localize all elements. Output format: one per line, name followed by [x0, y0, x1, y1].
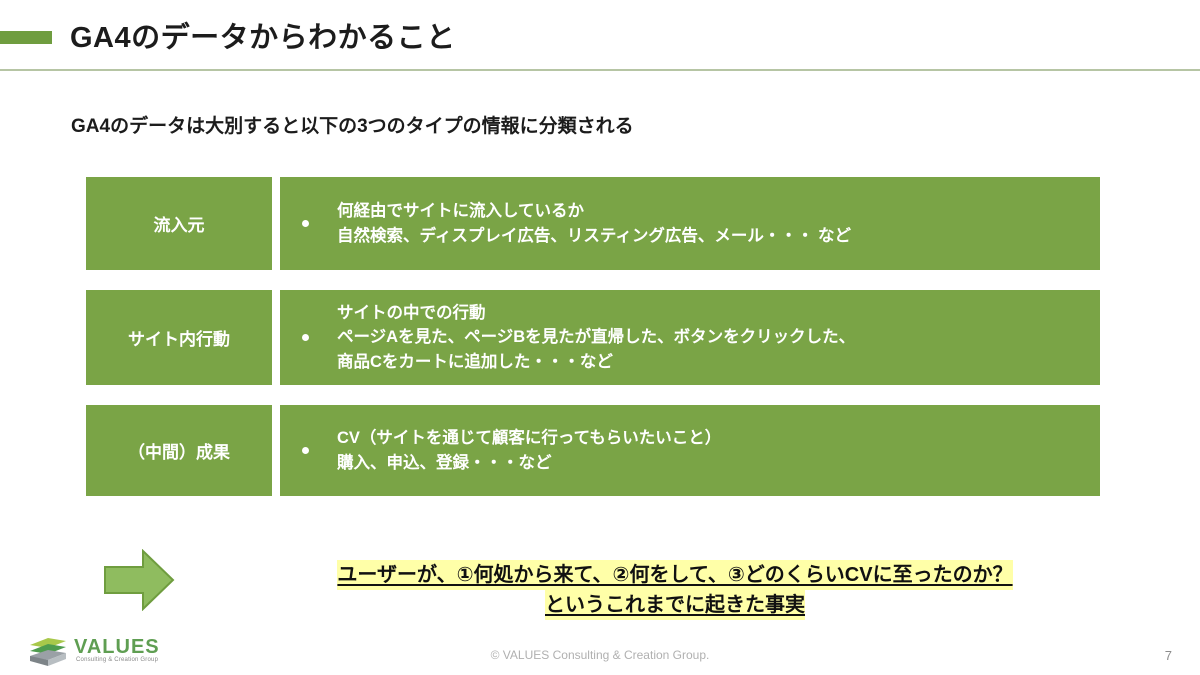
row-label-source: 流入元 [86, 177, 272, 270]
slide: GA4のデータからわかること GA4のデータは大別すると以下の3つのタイプの情報… [0, 0, 1200, 675]
row-body-source: 何経由でサイトに流入しているか 自然検索、ディスプレイ広告、リスティング広告、メ… [280, 177, 1100, 270]
conclusion-line-1-wrap: ユーザーが、①何処から来て、②何をして、③どのくらいCVに至ったのか？ [260, 560, 1090, 590]
conclusion-line-2: というこれまでに起きた事実 [545, 590, 805, 620]
conclusion-line-2-wrap: というこれまでに起きた事実 [260, 590, 1090, 620]
table-row: 流入元 何経由でサイトに流入しているか 自然検索、ディスプレイ広告、リスティング… [86, 177, 1100, 270]
bullet-icon [302, 447, 309, 454]
row-text-outcome: CV（サイトを通じて顧客に行ってもらいたいこと） 購入、申込、登録・・・など [337, 426, 721, 474]
row-line: ページAを見た、ページBを見たが直帰した、ボタンをクリックした、 [337, 325, 855, 349]
header-divider [0, 69, 1200, 71]
conclusion-block: ユーザーが、①何処から来て、②何をして、③どのくらいCVに至ったのか？ というこ… [260, 560, 1090, 620]
slide-header: GA4のデータからわかること [0, 0, 1200, 70]
bullet-icon [302, 334, 309, 341]
row-line: 何経由でサイトに流入しているか [337, 199, 851, 223]
page-title: GA4のデータからわかること [70, 14, 456, 56]
row-label-onsite-behavior: サイト内行動 [86, 290, 272, 385]
table-row: サイト内行動 サイトの中での行動 ページAを見た、ページBを見たが直帰した、ボタ… [86, 290, 1100, 385]
lead-sentence: GA4のデータは大別すると以下の3つのタイプの情報に分類される [71, 111, 634, 138]
row-body-onsite-behavior: サイトの中での行動 ページAを見た、ページBを見たが直帰した、ボタンをクリックし… [280, 290, 1100, 385]
right-arrow-icon [103, 549, 175, 611]
row-line: CV（サイトを通じて顧客に行ってもらいたいこと） [337, 426, 721, 450]
row-label-outcome: （中間）成果 [86, 405, 272, 496]
row-line: サイトの中での行動 [337, 301, 855, 325]
title-accent-bar [0, 31, 52, 44]
category-table: 流入元 何経由でサイトに流入しているか 自然検索、ディスプレイ広告、リスティング… [86, 177, 1100, 516]
row-line: 商品Cをカートに追加した・・・など [337, 350, 855, 374]
row-text-onsite-behavior: サイトの中での行動 ページAを見た、ページBを見たが直帰した、ボタンをクリックし… [337, 301, 855, 373]
row-line: 自然検索、ディスプレイ広告、リスティング広告、メール・・・ など [337, 224, 851, 248]
row-text-source: 何経由でサイトに流入しているか 自然検索、ディスプレイ広告、リスティング広告、メ… [337, 199, 851, 247]
row-line: 購入、申込、登録・・・など [337, 451, 721, 475]
conclusion-line-1: ユーザーが、①何処から来て、②何をして、③どのくらいCVに至ったのか？ [337, 560, 1012, 590]
bullet-icon [302, 220, 309, 227]
row-body-outcome: CV（サイトを通じて顧客に行ってもらいたいこと） 購入、申込、登録・・・など [280, 405, 1100, 496]
page-number: 7 [1165, 648, 1172, 663]
table-row: （中間）成果 CV（サイトを通じて顧客に行ってもらいたいこと） 購入、申込、登録… [86, 405, 1100, 496]
copyright-text: © VALUES Consulting & Creation Group. [0, 648, 1200, 662]
